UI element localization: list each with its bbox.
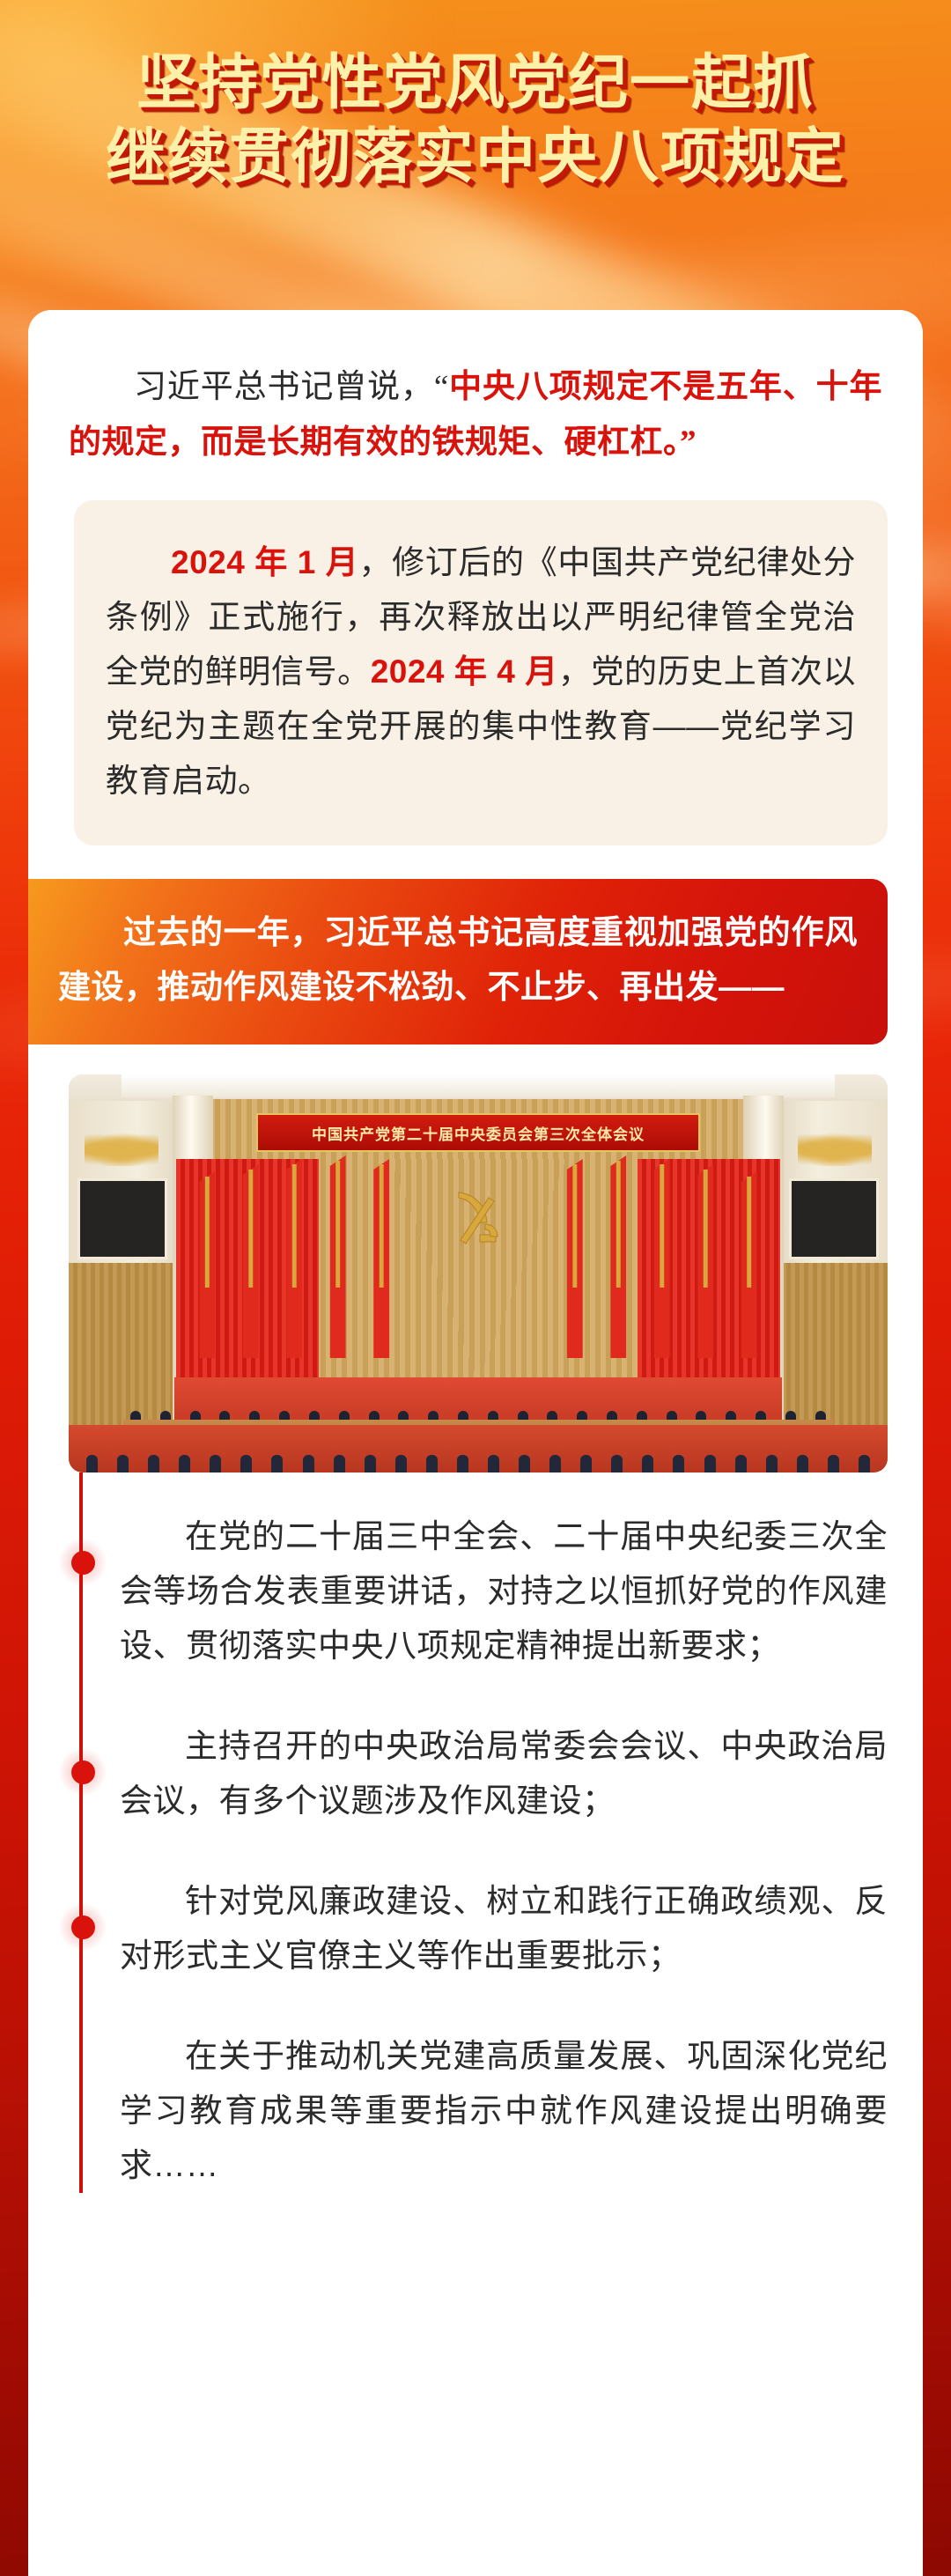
red-banner-text: 过去的一年，习近平总书记高度重视加强党的作风建设，推动作风建设不松劲、不止步、再… (58, 905, 858, 1015)
timeline-list: 在党的二十届三中全会、二十届中央纪委三次全会等场合发表重要讲话，对持之以恒抓好党… (69, 1473, 888, 2193)
title-line-1: 坚持党性党风党纪一起抓 (0, 46, 951, 120)
date-badge-1: 2024 年 1 月 (171, 544, 358, 580)
timeline-spacer-3 (69, 1983, 888, 2029)
quote-lead: 习近平总书记曾说， (134, 368, 434, 404)
timeline-text-1: 在党的二十届三中全会、二十届中央纪委三次全会等场合发表重要讲话，对持之以恒抓好党… (69, 1509, 888, 1673)
timeline-item-2: 主持召开的中央政治局常委会会议、中央政治局会议，有多个议题涉及作风建设； (69, 1719, 888, 1828)
timeline-spacer-1 (69, 1673, 888, 1719)
audience-people (86, 1453, 870, 1473)
date-badge-2: 2024 年 4 月 (371, 653, 558, 690)
timeline-bullet-icon-1 (58, 1538, 107, 1587)
content-card: 习近平总书记曾说，“中央八项规定不是五年、十年的规定，而是长期有效的铁规矩、硬杠… (28, 310, 923, 2576)
quote-open-mark: “ (434, 369, 449, 405)
poster-title: 坚持党性党风党纪一起抓 继续贯彻落实中央八项规定 (0, 46, 951, 194)
photo-illustration: 中国共产党第二十届中央委员会第三次全体会议 (69, 1074, 888, 1473)
timeline-text-4: 在关于推动机关党建高质量发展、巩固深化党纪学习教育成果等重要指示中就作风建设提出… (69, 2029, 888, 2193)
photo-stage-banner: 中国共产党第二十届中央委员会第三次全体会议 (256, 1113, 700, 1152)
timeline-text-3: 针对党风廉政建设、树立和践行正确政绩观、反对形式主义官僚主义等作出重要批示； (69, 1874, 888, 1983)
title-line-2: 继续贯彻落实中央八项规定 (0, 120, 951, 194)
poster-background: 坚持党性党风党纪一起抓 继续贯彻落实中央八项规定 习近平总书记曾说，“中央八项规… (0, 0, 951, 2576)
party-emblem-icon (450, 1185, 506, 1252)
timeline-item-1: 在党的二十届三中全会、二十届中央纪委三次全会等场合发表重要讲话，对持之以恒抓好党… (69, 1509, 888, 1673)
quote-close-mark: ” (680, 424, 697, 461)
timeline-bullet-icon-2 (58, 1747, 107, 1797)
timeline-text-2: 主持召开的中央政治局常委会会议、中央政治局会议，有多个议题涉及作风建设； (69, 1719, 888, 1828)
timeline-item-3: 针对党风廉政建设、树立和践行正确政绩观、反对形式主义官僚主义等作出重要批示； (69, 1874, 888, 1983)
hall-ceiling-inner (122, 1074, 835, 1097)
conference-photo: 中国共产党第二十届中央委员会第三次全体会议 (69, 1074, 888, 1473)
beige-paragraph: 2024 年 1 月，修订后的《中国共产党纪律处分条例》正式施行，再次释放出以严… (106, 535, 856, 808)
timeline-spacer-2 (69, 1828, 888, 1874)
red-highlight-banner: 过去的一年，习近平总书记高度重视加强党的作风建设，推动作风建设不松劲、不止步、再… (28, 879, 888, 1044)
timeline-item-4: 在关于推动机关党建高质量发展、巩固深化党纪学习教育成果等重要指示中就作风建设提出… (69, 2029, 888, 2193)
photo-stage-banner-text: 中国共产党第二十届中央委员会第三次全体会议 (312, 1122, 645, 1144)
quote-paragraph: 习近平总书记曾说，“中央八项规定不是五年、十年的规定，而是长期有效的铁规矩、硬杠… (69, 359, 882, 470)
timeline-bullet-icon-3 (58, 1902, 107, 1952)
beige-info-box: 2024 年 1 月，修订后的《中国共产党纪律处分条例》正式施行，再次释放出以严… (74, 500, 888, 845)
timeline-spacer-top (69, 1488, 888, 1509)
